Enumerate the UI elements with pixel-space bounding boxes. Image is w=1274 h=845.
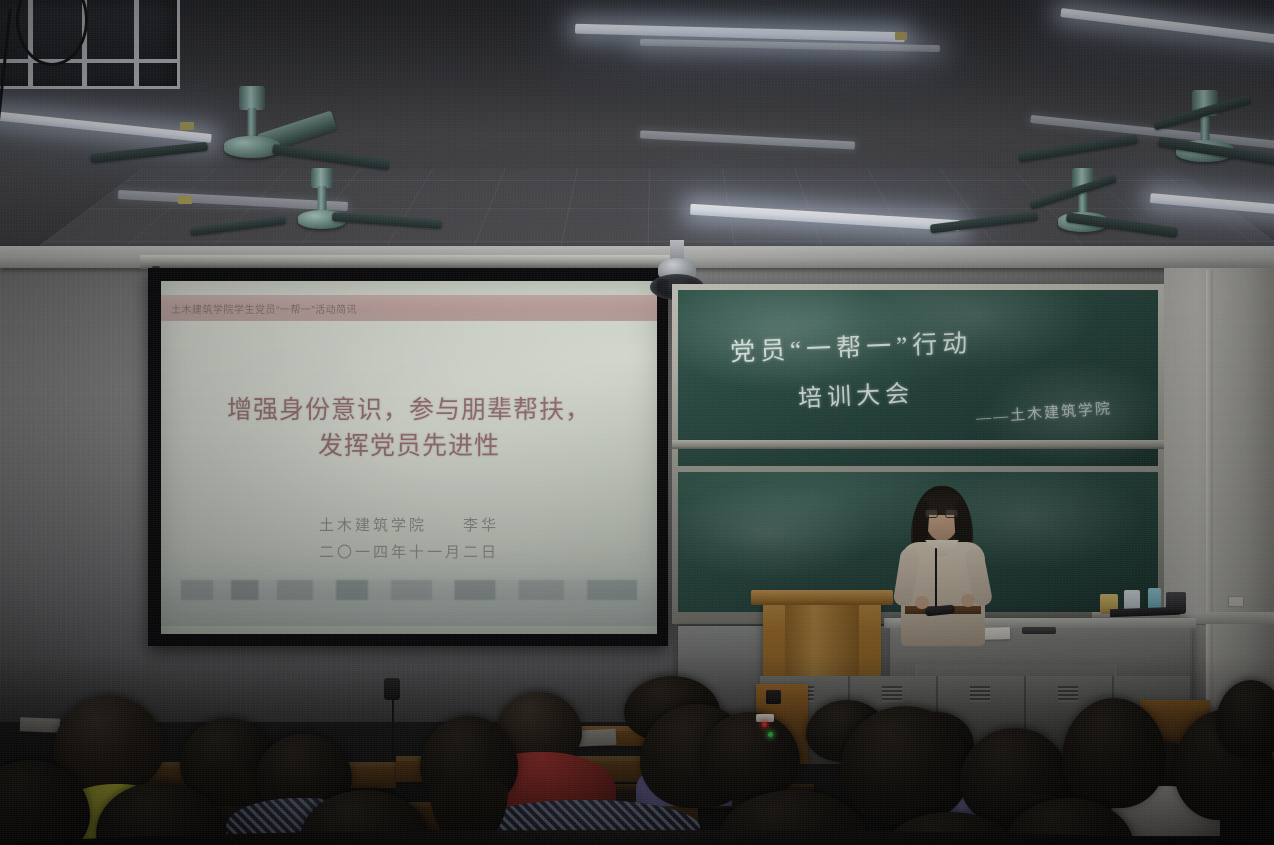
screen-roller-housing	[140, 255, 680, 269]
presenter-hand-left	[915, 596, 929, 609]
tube-light-end-cap	[178, 196, 192, 204]
slide-title-line-2: 发挥党员先进性	[167, 429, 651, 465]
glasses-lens-right	[945, 509, 958, 518]
ceiling-fan	[232, 168, 412, 238]
ceiling-fan	[988, 168, 1178, 244]
wall-socket[interactable]	[1228, 596, 1244, 607]
microphone-cable	[935, 548, 937, 612]
slide-header-bar: 土木建筑学院学生党员“一帮一”活动简讯	[161, 295, 657, 321]
glasses-icon	[925, 509, 959, 518]
fan-mount-cap	[311, 168, 333, 188]
tube-light-end-cap	[895, 32, 907, 40]
slide-title-line-1: 增强身份意识，参与朋辈帮扶，	[167, 393, 651, 429]
slide-author-line: 土木建筑学院 李华	[167, 513, 651, 540]
fan-down-rod	[318, 186, 327, 212]
skyline-graphic	[181, 580, 637, 600]
chalk-smear	[678, 482, 878, 582]
ceiling-fan	[1100, 90, 1274, 176]
door-frame-edge	[1206, 270, 1213, 710]
screen-surface: 土木建筑学院学生党员“一帮一”活动简讯 增强身份意识，参与朋辈帮扶， 发挥党员先…	[161, 281, 657, 634]
hair-clip	[756, 714, 774, 722]
audience-head	[700, 712, 800, 800]
cage-shelf	[0, 59, 177, 63]
wall-speaker-box	[384, 678, 400, 700]
blackboard-line-2: 培训大会	[797, 373, 914, 413]
locker-vent	[1058, 686, 1078, 702]
glasses-bridge	[938, 513, 945, 514]
locker-vent	[970, 686, 990, 702]
presenter	[895, 484, 991, 644]
presenter-hand-right	[961, 594, 975, 607]
speaker-wire	[392, 698, 394, 758]
wall-speaker-box	[766, 690, 781, 704]
glasses-lens-left	[925, 509, 938, 518]
fan-motor	[224, 136, 280, 158]
classroom-photo-scene: 土木建筑学院学生党员“一帮一”活动简讯 增强身份意识，参与朋辈帮扶， 发挥党员先…	[0, 0, 1274, 845]
slide-title: 增强身份意识，参与朋辈帮扶， 发挥党员先进性	[167, 393, 651, 465]
slide-header-text: 土木建筑学院学生党员“一帮一”活动简讯	[161, 301, 357, 316]
blackboard-chalk-rail	[672, 440, 1164, 449]
projection-screen: 土木建筑学院学生党员“一帮一”活动简讯 增强身份意识，参与朋辈帮扶， 发挥党员先…	[148, 268, 668, 646]
slide-footer-photo	[161, 548, 657, 626]
cage-bar	[134, 0, 139, 86]
podium-top-ledge	[751, 590, 893, 605]
fan-mount-cap	[239, 86, 265, 110]
indicator-led-green	[768, 732, 773, 737]
ceiling-fan	[152, 86, 352, 172]
locker-vent	[882, 686, 902, 702]
paper-on-bench	[20, 717, 60, 732]
microphone-receiver[interactable]	[1022, 627, 1056, 634]
indicator-led-red	[762, 722, 767, 727]
